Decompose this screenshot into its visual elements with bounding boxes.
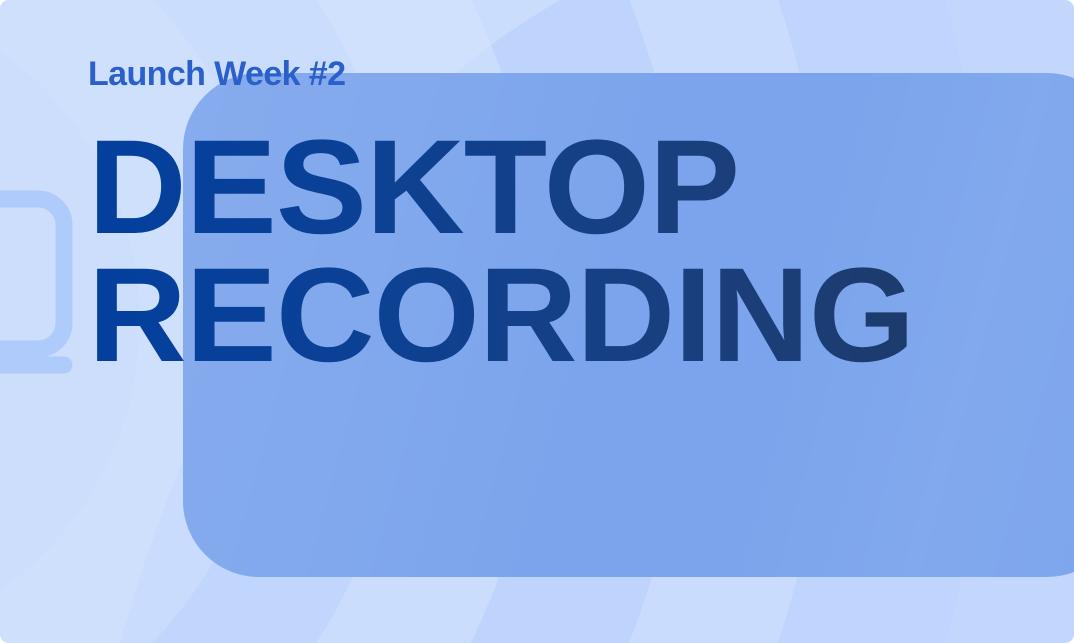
headline-line-1: DESKTOP [88,125,1074,251]
headline-line-2: RECORDING [88,253,1074,379]
launch-week-banner: Launch Week #2 DESKTOP RECORDING [0,0,1074,643]
eyebrow-label: Launch Week #2 [88,57,1074,91]
banner-content: Launch Week #2 DESKTOP RECORDING [88,57,1074,379]
page-title: DESKTOP RECORDING [88,125,1074,379]
